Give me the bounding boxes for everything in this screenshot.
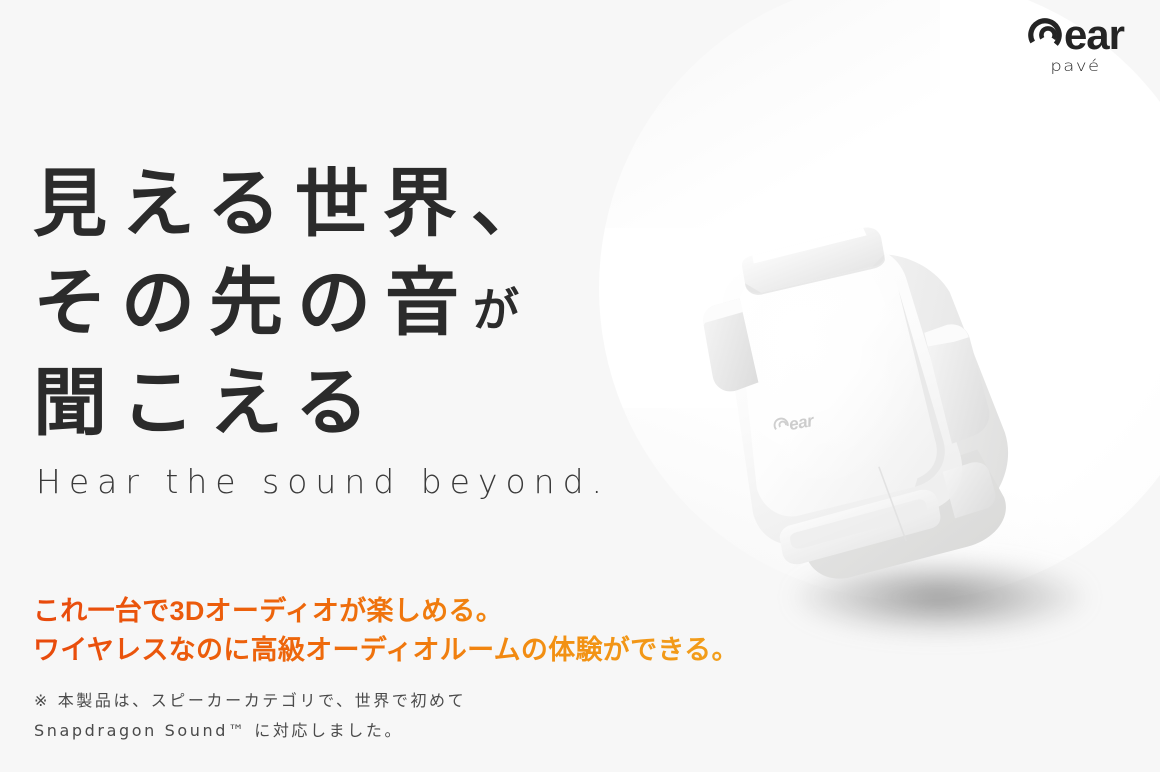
svg-text:ear: ear (788, 411, 817, 434)
product-shadow (795, 560, 1085, 634)
subheadline: Hear the sound beyond. (36, 462, 610, 501)
headline-line-2: その先の音が (33, 253, 559, 353)
claim-line-2: ワイヤレスなのに高級オーディオルームの体験ができる。 (33, 631, 739, 670)
page-title: 見える世界、 その先の音が 聞こえる (33, 154, 559, 454)
claim-text: これ一台で3Dオーディオが楽しめる。 ワイヤレスなのに高級オーディオルームの体験… (33, 592, 739, 670)
teal-gradient-arc (560, 0, 1160, 638)
brand-word: ear (1064, 16, 1124, 55)
product-image: ear (665, 168, 1065, 588)
arc-fade-top (520, 0, 940, 228)
sparkle-icon (1132, 152, 1150, 170)
claim-line-1: これ一台で3Dオーディオが楽しめる。 (33, 592, 739, 631)
brand-sub: pavé (1027, 59, 1124, 74)
brand-logo: ear pavé (1027, 16, 1124, 76)
hero-banner: ear ear pavé 見える世界、 その先の音が 聞こえる Hear the… (0, 0, 1160, 772)
headline-line-2-main: その先の音 (33, 261, 473, 344)
footnote: ※ 本製品は、スピーカーカテゴリで、世界で初めて Snapdragon Soun… (34, 686, 466, 745)
arc-ring-icon (560, 0, 1160, 638)
headline-line-2-particle: が (473, 284, 525, 336)
double-c-mark-icon (1027, 17, 1063, 53)
footnote-line-2: Snapdragon Sound™ に対応しました。 (34, 716, 466, 746)
product-cube-icon: ear (665, 168, 1065, 588)
footnote-line-1: ※ 本製品は、スピーカーカテゴリで、世界で初めて (34, 686, 466, 716)
headline-line-3: 聞こえる (33, 353, 559, 453)
arc-inner-disc (599, 0, 1160, 600)
headline-line-1: 見える世界、 (33, 154, 559, 254)
